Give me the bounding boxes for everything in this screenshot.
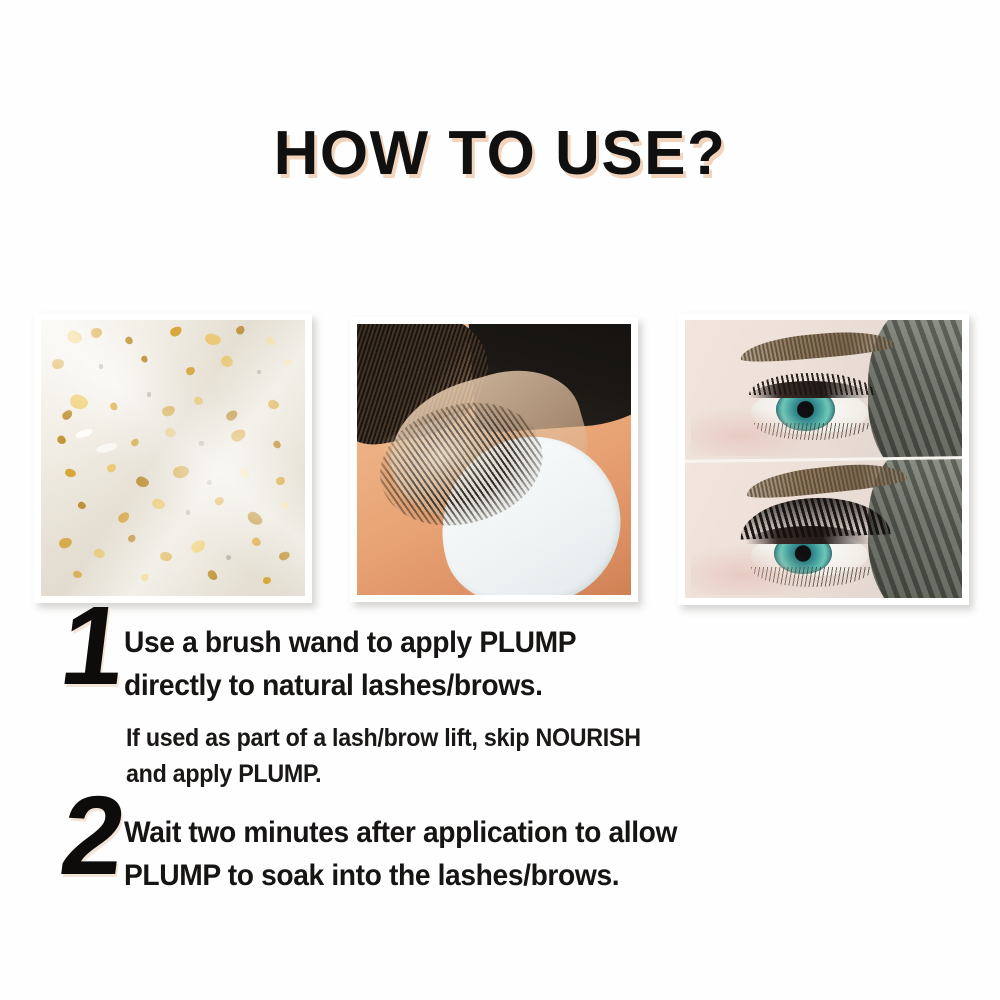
- serum-sheen-overlay: [41, 320, 305, 596]
- step-2-line-2: PLUMP to soak into the lashes/brows.: [124, 855, 914, 898]
- how-to-use-infographic: { "page": { "background_color": "#fefefe…: [0, 0, 1000, 1000]
- gold-flake-serum-photo: [34, 313, 312, 603]
- gold-flake-serum-image: [41, 320, 305, 596]
- lash-lift-pad-image: [357, 324, 631, 595]
- step-1-line-2: directly to natural lashes/brows.: [124, 665, 914, 708]
- page-title-container: HOW TO USE?: [0, 118, 1000, 189]
- step-1-note-line-2: and apply PLUMP.: [126, 756, 926, 792]
- step-1-text: Use a brush wand to apply PLUMP directly…: [124, 622, 964, 707]
- after-panel: [685, 459, 962, 598]
- cheek-blush-before: [691, 406, 818, 456]
- step-2-text: Wait two minutes after application to al…: [124, 812, 964, 897]
- before-panel: [685, 320, 962, 459]
- before-after-image: [685, 320, 962, 598]
- step-1-note: If used as part of a lash/brow lift, ski…: [126, 720, 986, 793]
- lash-lift-pad-photo: [350, 317, 638, 602]
- before-after-lashes-photo: [678, 313, 969, 605]
- cheek-blush-after: [691, 545, 818, 595]
- step-2-number: 2: [56, 790, 130, 882]
- step-1-number: 1: [56, 600, 130, 692]
- step-1-line-1: Use a brush wand to apply PLUMP: [124, 622, 914, 665]
- page-title: HOW TO USE?: [274, 118, 727, 189]
- step-1-note-line-1: If used as part of a lash/brow lift, ski…: [126, 720, 926, 756]
- step-2-line-1: Wait two minutes after application to al…: [124, 812, 914, 855]
- photo-row: [34, 313, 969, 605]
